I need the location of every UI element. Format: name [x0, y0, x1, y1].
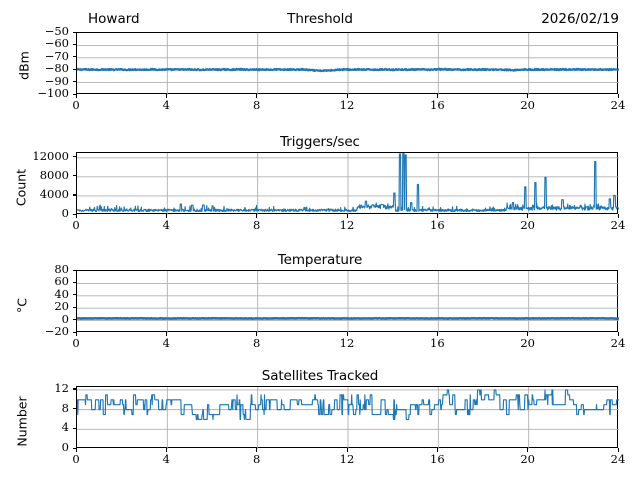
y-tick-label: 0	[0, 208, 69, 220]
x-tick-label: 4	[141, 338, 191, 350]
y-tick-label: 12	[0, 383, 69, 395]
y-tick-mark	[73, 81, 77, 82]
y-tick-mark	[73, 319, 77, 320]
x-tick-mark	[618, 94, 619, 98]
x-tick-label: 0	[51, 454, 101, 466]
x-tick-mark	[437, 332, 438, 336]
y-tick-label: 12000	[0, 151, 69, 163]
x-tick-label: 12	[322, 338, 372, 350]
panel-threshold-axes	[76, 32, 618, 94]
figure-canvas: Howard 2026/02/19 Threshold dBm Triggers…	[0, 0, 640, 480]
y-tick-mark	[73, 408, 77, 409]
x-tick-mark	[527, 214, 528, 218]
y-tick-label: 0	[0, 314, 69, 326]
x-tick-mark	[256, 214, 257, 218]
x-tick-label: 8	[232, 454, 282, 466]
x-tick-mark	[76, 332, 77, 336]
x-tick-mark	[618, 448, 619, 452]
x-tick-label: 4	[141, 220, 191, 232]
x-tick-mark	[527, 332, 528, 336]
threshold-plot-area	[77, 33, 619, 95]
x-tick-mark	[76, 94, 77, 98]
y-tick-label: 8000	[0, 170, 69, 182]
y-tick-mark	[73, 69, 77, 70]
x-tick-mark	[166, 448, 167, 452]
panel-triggers-title: Triggers/sec	[0, 134, 640, 150]
y-tick-mark	[73, 175, 77, 176]
x-tick-mark	[437, 448, 438, 452]
y-tick-label: 0	[0, 442, 69, 454]
temperature-plot-area	[77, 271, 619, 333]
y-tick-label: 4000	[0, 189, 69, 201]
y-tick-label: 40	[0, 289, 69, 301]
y-tick-label: 4	[0, 422, 69, 434]
threshold-data-line	[77, 69, 619, 72]
x-tick-label: 24	[593, 338, 640, 350]
y-tick-mark	[73, 294, 77, 295]
y-tick-label: 20	[0, 301, 69, 313]
x-tick-label: 16	[412, 454, 462, 466]
x-tick-mark	[527, 448, 528, 452]
y-tick-mark	[73, 44, 77, 45]
x-tick-label: 4	[141, 100, 191, 112]
x-tick-label: 16	[412, 220, 462, 232]
x-tick-mark	[347, 94, 348, 98]
x-tick-mark	[527, 94, 528, 98]
y-tick-label: −20	[0, 326, 69, 338]
x-tick-mark	[76, 448, 77, 452]
x-tick-label: 0	[51, 220, 101, 232]
x-tick-label: 20	[503, 100, 553, 112]
x-tick-mark	[437, 94, 438, 98]
x-tick-mark	[437, 214, 438, 218]
panel-temperature-title: Temperature	[0, 252, 640, 268]
y-tick-mark	[73, 307, 77, 308]
y-tick-label: 60	[0, 276, 69, 288]
x-tick-label: 20	[503, 454, 553, 466]
y-tick-label: 80	[0, 264, 69, 276]
x-tick-label: 8	[232, 338, 282, 350]
x-tick-mark	[256, 94, 257, 98]
x-tick-mark	[256, 332, 257, 336]
y-tick-label: −100	[0, 88, 69, 100]
x-tick-label: 0	[51, 338, 101, 350]
x-tick-label: 20	[503, 338, 553, 350]
x-tick-label: 16	[412, 338, 462, 350]
panel-triggers-axes	[76, 152, 618, 214]
x-tick-mark	[166, 94, 167, 98]
x-tick-label: 12	[322, 220, 372, 232]
x-tick-label: 20	[503, 220, 553, 232]
x-tick-mark	[166, 332, 167, 336]
x-tick-label: 12	[322, 454, 372, 466]
y-tick-mark	[73, 194, 77, 195]
y-tick-mark	[73, 270, 77, 271]
panel-satellites-title: Satellites Tracked	[0, 368, 640, 384]
x-tick-mark	[347, 214, 348, 218]
x-tick-label: 0	[51, 100, 101, 112]
x-tick-label: 8	[232, 100, 282, 112]
x-tick-mark	[256, 448, 257, 452]
x-tick-label: 8	[232, 220, 282, 232]
y-tick-mark	[73, 32, 77, 33]
triggers-plot-area	[77, 153, 619, 215]
y-tick-mark	[73, 156, 77, 157]
y-tick-label: −80	[0, 63, 69, 75]
panel-satellites-axes	[76, 386, 618, 448]
x-tick-mark	[347, 332, 348, 336]
x-tick-label: 24	[593, 220, 640, 232]
y-tick-mark	[73, 388, 77, 389]
x-tick-mark	[618, 332, 619, 336]
x-tick-mark	[166, 214, 167, 218]
x-tick-label: 12	[322, 100, 372, 112]
x-tick-mark	[618, 214, 619, 218]
panel-threshold-title: Threshold	[0, 11, 640, 27]
x-tick-mark	[347, 448, 348, 452]
x-tick-label: 4	[141, 454, 191, 466]
y-tick-mark	[73, 56, 77, 57]
y-tick-mark	[73, 282, 77, 283]
x-tick-label: 16	[412, 100, 462, 112]
satellites-plot-area	[77, 387, 619, 449]
x-tick-label: 24	[593, 100, 640, 112]
x-tick-label: 24	[593, 454, 640, 466]
panel-temperature-axes	[76, 270, 618, 332]
y-tick-mark	[73, 428, 77, 429]
y-tick-label: 8	[0, 403, 69, 415]
x-tick-mark	[76, 214, 77, 218]
